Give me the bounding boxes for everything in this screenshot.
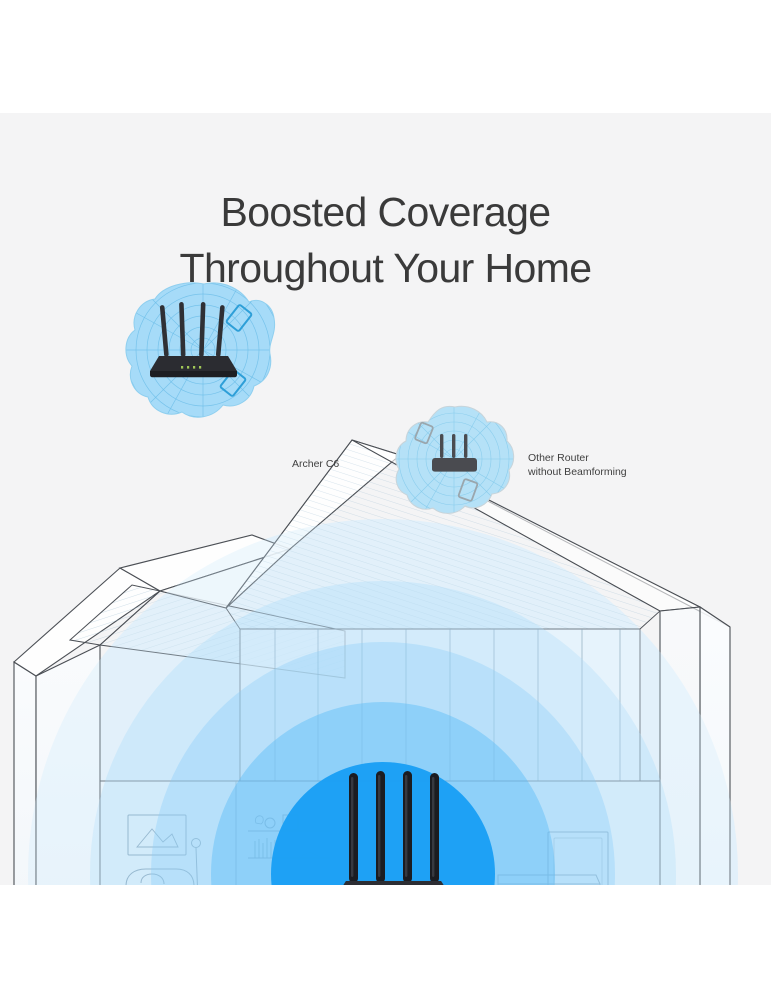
coverage-comparison: Archer C6 bbox=[0, 276, 771, 431]
product-marketing-image: Boosted Coverage Throughout Your Home bbox=[0, 0, 771, 1000]
other-router-coverage-diagram bbox=[392, 401, 517, 531]
other-router-label-line-1: Other Router bbox=[528, 452, 589, 464]
other-router-label-line-2: without Beamforming bbox=[528, 466, 627, 478]
other-router-label: Other Router without Beamforming bbox=[528, 452, 627, 479]
content-panel: Boosted Coverage Throughout Your Home bbox=[0, 113, 771, 885]
page-title: Boosted Coverage Throughout Your Home bbox=[0, 184, 771, 296]
archer-c6-label: Archer C6 bbox=[292, 458, 339, 472]
archer-c6-coverage-diagram bbox=[118, 278, 288, 433]
house-coverage-scene: tp-link bbox=[0, 431, 771, 885]
headline-line-1: Boosted Coverage bbox=[220, 189, 550, 235]
headline-line-2: Throughout Your Home bbox=[0, 240, 771, 296]
